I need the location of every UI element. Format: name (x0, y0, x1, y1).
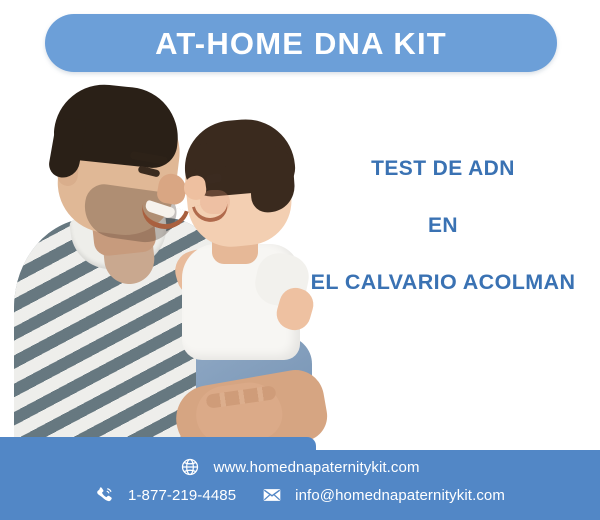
footer-row-contacts: 1-877-219-4485 info@homednapaternitykit.… (0, 485, 600, 505)
service-line-2: EN (286, 215, 600, 236)
globe-icon (180, 457, 200, 477)
footer-row-website: www.homednapaternitykit.com (0, 457, 600, 477)
photo-stage (0, 78, 330, 456)
service-line-3-location: EL CALVARIO ACOLMAN (286, 272, 600, 294)
envelope-icon (262, 485, 282, 505)
footer-phone[interactable]: 1-877-219-4485 (95, 485, 236, 505)
location-text-block: TEST DE ADN EN EL CALVARIO ACOLMAN (286, 158, 600, 294)
page-title: AT-HOME DNA KIT (155, 28, 447, 59)
footer-phone-label: 1-877-219-4485 (128, 487, 236, 504)
phone-icon (95, 485, 115, 505)
footer-website-label: www.homednapaternitykit.com (213, 459, 419, 476)
footer-contact-bar: www.homednapaternitykit.com 1-877-219-44… (0, 437, 600, 520)
service-line-1: TEST DE ADN (286, 158, 600, 179)
footer-website[interactable]: www.homednapaternitykit.com (180, 457, 419, 477)
footer-email-label: info@homednapaternitykit.com (295, 487, 505, 504)
footer-email[interactable]: info@homednapaternitykit.com (262, 485, 505, 505)
hero-photo (0, 78, 330, 456)
footer-rows: www.homednapaternitykit.com 1-877-219-44… (0, 437, 600, 520)
header-banner: AT-HOME DNA KIT (45, 14, 557, 72)
promo-banner: AT-HOME DNA KIT (0, 0, 600, 520)
